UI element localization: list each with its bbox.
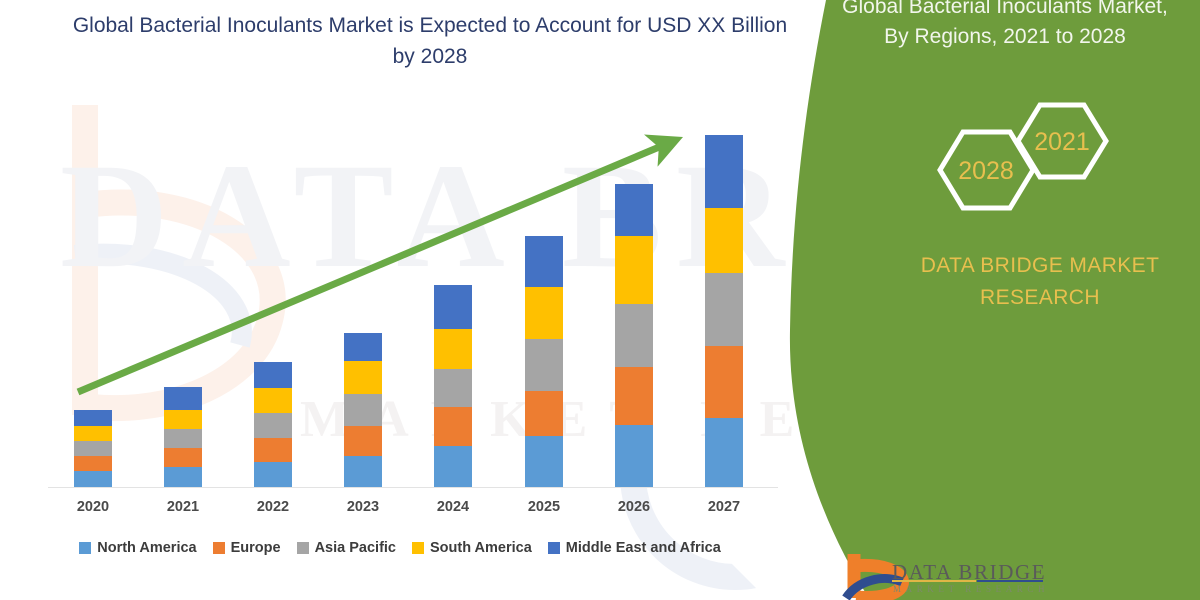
bar-segment-south-america-2021[interactable] xyxy=(164,410,202,429)
legend-swatch-icon xyxy=(213,542,225,554)
hexagon-2028-label: 2028 xyxy=(958,157,1014,185)
x-axis-line xyxy=(48,487,778,488)
bar-2025[interactable] xyxy=(525,236,563,487)
legend-item-north-america[interactable]: North America xyxy=(79,540,196,556)
bar-segment-south-america-2027[interactable] xyxy=(705,208,743,273)
bar-segment-south-america-2025[interactable] xyxy=(525,287,563,338)
bar-segment-asia-pacific-2026[interactable] xyxy=(615,304,653,366)
legend-item-europe[interactable]: Europe xyxy=(213,540,281,556)
bar-segment-south-america-2023[interactable] xyxy=(344,361,382,394)
legend-swatch-icon xyxy=(412,542,424,554)
x-axis-label-2020: 2020 xyxy=(48,499,138,515)
bar-segment-north-america-2022[interactable] xyxy=(254,462,292,487)
bar-segment-middle-east-and-africa-2020[interactable] xyxy=(74,410,112,426)
bar-segment-asia-pacific-2020[interactable] xyxy=(74,441,112,456)
chart-infographic: DATA BRIDGE MARKET RESEARCH Global Bacte… xyxy=(0,0,1200,600)
legend-swatch-icon xyxy=(297,542,309,554)
logo-tagline: MARKET RESEARCH xyxy=(893,584,1049,594)
legend-swatch-icon xyxy=(79,542,91,554)
x-axis-label-2021: 2021 xyxy=(138,499,228,515)
bar-segment-middle-east-and-africa-2025[interactable] xyxy=(525,236,563,287)
legend-label: Europe xyxy=(231,540,281,556)
bar-segment-south-america-2026[interactable] xyxy=(615,236,653,304)
bar-segment-europe-2022[interactable] xyxy=(254,438,292,462)
bar-segment-middle-east-and-africa-2027[interactable] xyxy=(705,135,743,208)
legend-label: Middle East and Africa xyxy=(566,540,721,556)
bar-2026[interactable] xyxy=(615,184,653,487)
logo-rule-blue xyxy=(977,580,1043,582)
bar-segment-europe-2021[interactable] xyxy=(164,448,202,467)
chart-legend: North AmericaEuropeAsia PacificSouth Ame… xyxy=(0,540,800,556)
panel-title: Global Bacterial Inoculants Market, By R… xyxy=(830,0,1180,52)
x-axis-label-2024: 2024 xyxy=(408,499,498,515)
bar-segment-middle-east-and-africa-2024[interactable] xyxy=(434,285,472,328)
bar-chart-plot: 20202021202220232024202520262027 North A… xyxy=(0,0,800,600)
bar-segment-asia-pacific-2022[interactable] xyxy=(254,413,292,438)
bar-segment-north-america-2021[interactable] xyxy=(164,467,202,487)
bar-segment-south-america-2022[interactable] xyxy=(254,388,292,413)
bar-2027[interactable] xyxy=(705,135,743,487)
legend-label: North America xyxy=(97,540,196,556)
bar-segment-middle-east-and-africa-2023[interactable] xyxy=(344,333,382,361)
bar-segment-north-america-2023[interactable] xyxy=(344,456,382,487)
bar-segment-north-america-2026[interactable] xyxy=(615,425,653,487)
x-axis-label-2027: 2027 xyxy=(679,499,769,515)
legend-item-middle-east-and-africa[interactable]: Middle East and Africa xyxy=(548,540,721,556)
x-axis-label-2026: 2026 xyxy=(589,499,679,515)
bar-2024[interactable] xyxy=(434,285,472,487)
bar-2020[interactable] xyxy=(74,410,112,487)
hexagon-2021-label: 2021 xyxy=(1034,128,1090,156)
bar-segment-asia-pacific-2025[interactable] xyxy=(525,339,563,391)
bar-segment-north-america-2025[interactable] xyxy=(525,436,563,487)
bar-segment-asia-pacific-2023[interactable] xyxy=(344,394,382,426)
bar-segment-europe-2023[interactable] xyxy=(344,426,382,456)
bar-2021[interactable] xyxy=(164,387,202,487)
bar-segment-europe-2024[interactable] xyxy=(434,407,472,446)
bar-segment-asia-pacific-2024[interactable] xyxy=(434,369,472,407)
bar-segment-europe-2020[interactable] xyxy=(74,456,112,471)
bar-segment-middle-east-and-africa-2026[interactable] xyxy=(615,184,653,236)
legend-swatch-icon xyxy=(548,542,560,554)
bar-segment-middle-east-and-africa-2021[interactable] xyxy=(164,387,202,410)
hexagon-year-badges: 2028 2021 xyxy=(900,95,1200,245)
bar-2023[interactable] xyxy=(344,333,382,487)
bar-segment-asia-pacific-2027[interactable] xyxy=(705,273,743,345)
bar-segment-north-america-2027[interactable] xyxy=(705,418,743,487)
x-axis-label-2022: 2022 xyxy=(228,499,318,515)
bar-segment-north-america-2020[interactable] xyxy=(74,471,112,487)
bar-2022[interactable] xyxy=(254,362,292,487)
legend-item-asia-pacific[interactable]: Asia Pacific xyxy=(297,540,396,556)
legend-label: Asia Pacific xyxy=(315,540,396,556)
bar-segment-europe-2026[interactable] xyxy=(615,367,653,425)
bar-segment-middle-east-and-africa-2022[interactable] xyxy=(254,362,292,388)
x-axis-label-2025: 2025 xyxy=(499,499,589,515)
legend-label: South America xyxy=(430,540,532,556)
bar-segment-south-america-2020[interactable] xyxy=(74,426,112,441)
bar-segment-europe-2027[interactable] xyxy=(705,346,743,418)
legend-item-south-america[interactable]: South America xyxy=(412,540,532,556)
bar-segment-asia-pacific-2021[interactable] xyxy=(164,429,202,448)
logo-rule-gold xyxy=(892,580,976,582)
bar-segment-north-america-2024[interactable] xyxy=(434,446,472,487)
x-axis-label-2023: 2023 xyxy=(318,499,408,515)
brand-name: DATA BRIDGE MARKET RESEARCH xyxy=(880,250,1200,314)
bar-segment-south-america-2024[interactable] xyxy=(434,329,472,369)
bar-segment-europe-2025[interactable] xyxy=(525,391,563,436)
